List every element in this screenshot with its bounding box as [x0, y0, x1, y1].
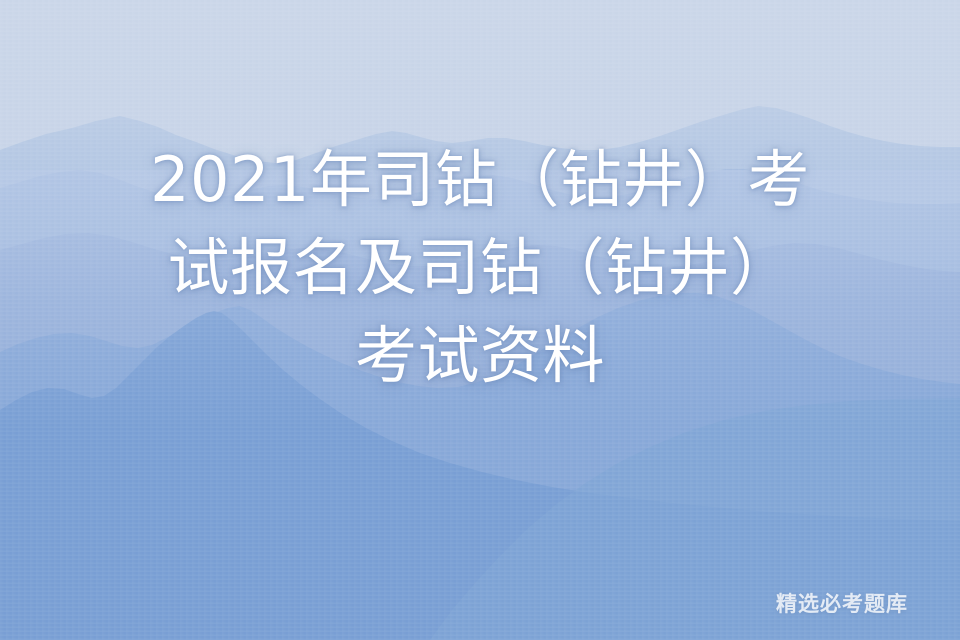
cover-image: 2021年司钻（钻井）考试报名及司钻（钻井）考试资料 精选必考题库: [0, 0, 960, 640]
watermark-label: 精选必考题库: [776, 588, 908, 618]
mountain-layer-foreground-right: [0, 0, 960, 640]
